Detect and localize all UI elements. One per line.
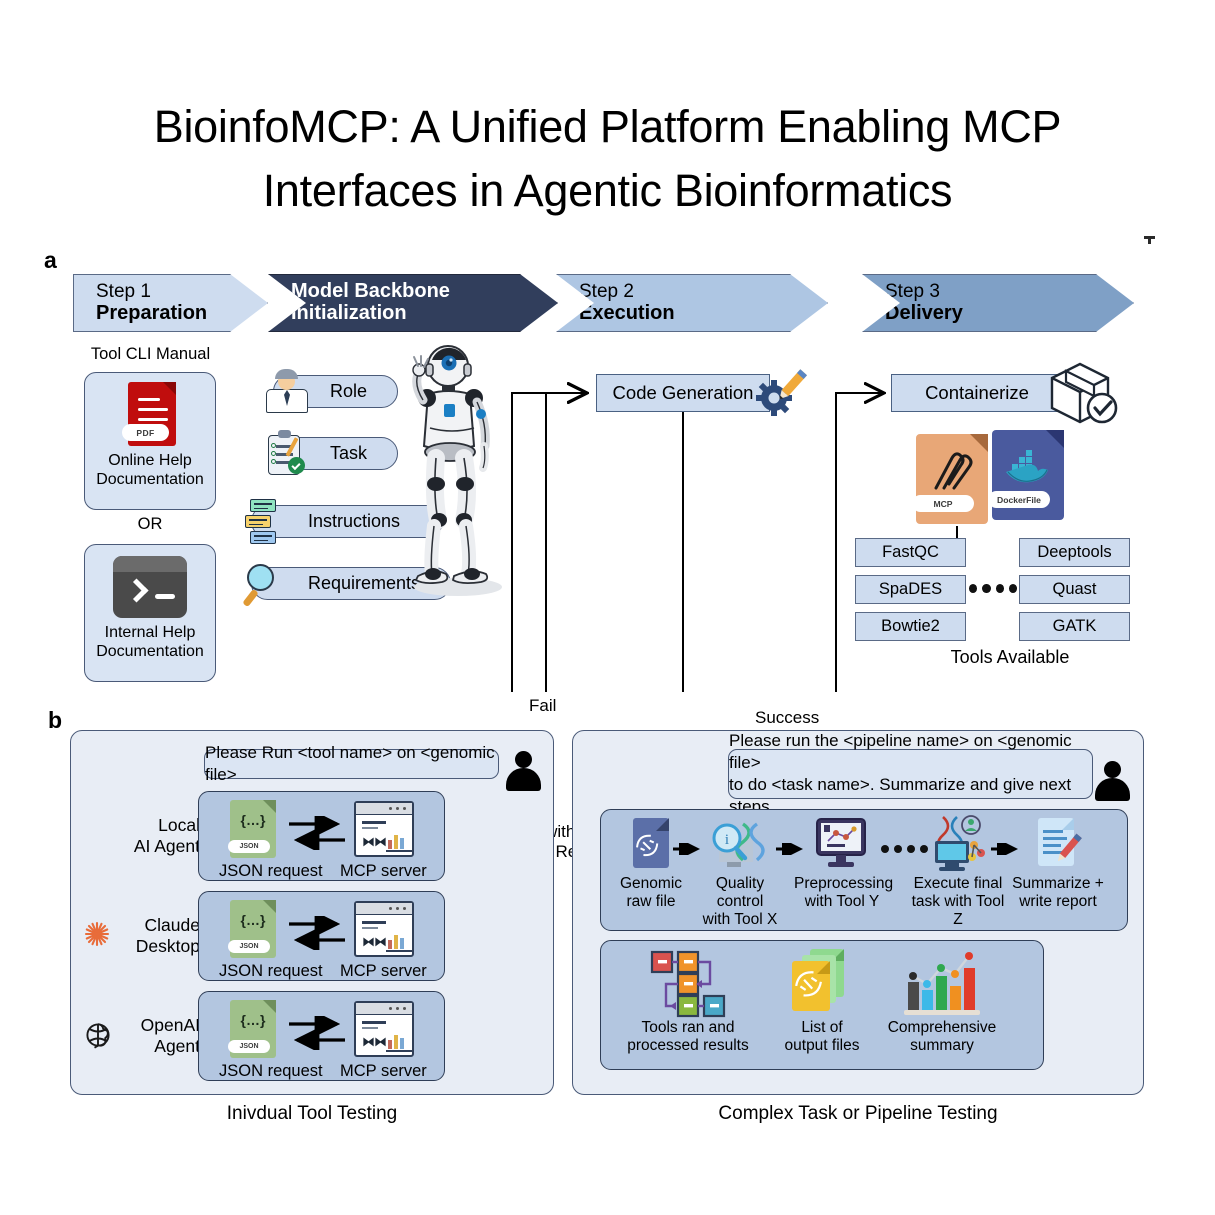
agent-label-local-ai-agent: LocalAI Agent <box>82 815 200 856</box>
json-request-caption: JSON request <box>219 962 323 981</box>
pipeline-arrow <box>775 843 807 855</box>
prompt-bubble-individual-tool: Please Run <tool name> on <genomic file> <box>204 749 499 779</box>
bidirectional-arrows-icon <box>287 916 347 950</box>
doc-card-online-help: PDF Online Help Documentation <box>84 372 216 510</box>
mcp-server-caption: MCP server <box>340 1062 427 1081</box>
agent-exchange-row: {…} JSON ⧓⧓ JSON request MCP server <box>198 891 445 981</box>
json-request-icon: {…} JSON <box>230 800 276 858</box>
tool-cli-manual-heading: Tool CLI Manual <box>73 345 228 364</box>
workflow-nodes-icon <box>618 945 758 1019</box>
docker-file-icon: DockerFile <box>992 430 1064 520</box>
user-avatar <box>1093 761 1131 801</box>
tools-available-caption: Tools Available <box>890 647 1130 668</box>
json-tag-label: JSON <box>228 840 270 853</box>
report-pencil-icon <box>1010 813 1106 875</box>
svg-text:i: i <box>725 832 729 848</box>
tool-box: Bowtie2 <box>855 612 966 641</box>
scientist-icon <box>260 365 314 419</box>
tool-box: Deeptools <box>1019 538 1130 567</box>
doc-card-label: Internal Help Documentation <box>96 624 204 661</box>
step-chevron-execution: Step 2 Execution <box>556 274 828 332</box>
pipeline-arrow <box>990 843 1022 855</box>
monitor-network-icon <box>794 813 890 875</box>
flow-node-code-generation: Code Generation <box>596 374 770 412</box>
output-item: List ofoutput files <box>752 945 892 1056</box>
mcp-server-caption: MCP server <box>340 962 427 981</box>
agent-exchange-row: {…} JSON ⧓⧓ JSON request MCP server <box>198 991 445 1081</box>
bidirectional-arrows-icon <box>287 1016 347 1050</box>
mcp-server-window-icon: ⧓⧓ <box>354 801 414 857</box>
pdf-file-icon: PDF <box>122 382 178 448</box>
gear-pencil-icon <box>752 368 808 420</box>
doc-card-label: Online Help Documentation <box>96 452 204 489</box>
package-check-icon <box>1040 356 1120 428</box>
flow-node-label: Code Generation <box>613 382 754 404</box>
stray-mark <box>1144 236 1155 244</box>
step-name: Preparation <box>96 302 267 326</box>
containerize-label: Containerize <box>925 382 1029 404</box>
agent-exchange-row: {…} JSON ⧓⧓ JSON request MCP server <box>198 791 445 881</box>
pdf-badge-label: PDF <box>122 424 169 441</box>
step-number: Model Backbone <box>291 280 557 302</box>
tool-box: GATK <box>1019 612 1130 641</box>
step-chevron-delivery: Step 3 Delivery <box>862 274 1134 332</box>
pipeline-ellipsis <box>881 845 928 853</box>
edge-label-fail: Fail <box>529 696 556 716</box>
pipeline-step: Execute finaltask with Tool Z <box>910 813 1006 929</box>
figure-title: BioinfoMCP: A Unified Platform Enabling … <box>60 95 1155 223</box>
step-name: Execution <box>579 302 827 326</box>
output-item: Comprehensivesummary <box>872 945 1012 1056</box>
panel-b: Please Run <tool name> on <genomic file>… <box>0 725 1215 1145</box>
pipeline-step: i Quality controlwith Tool X <box>692 813 788 929</box>
mcp-file-icon: MCP <box>916 434 988 524</box>
mcp-server-caption: MCP server <box>340 862 427 881</box>
step-number: Step 3 <box>885 281 1133 302</box>
terminal-icon <box>113 554 187 620</box>
doc-card-internal-help: Internal Help Documentation <box>84 544 216 682</box>
tool-box: Quast <box>1019 575 1130 604</box>
panel-a: Step 1 Preparation Model Backbone Initia… <box>0 262 1215 692</box>
tool-box: SpaDES <box>855 575 966 604</box>
step-chevron-model-backbone: Model Backbone Initialization <box>268 274 558 332</box>
pipeline-step: Preprocessingwith Tool Y <box>794 813 890 911</box>
mcp-file-label: MCP <box>912 495 974 512</box>
or-separator-label: OR <box>84 515 216 534</box>
prompt-bubble-pipeline: Please run the <pipeline name> on <genom… <box>728 749 1093 799</box>
json-request-icon: {…} JSON <box>230 900 276 958</box>
bidirectional-arrows-icon <box>287 816 347 850</box>
output-item: Tools ran andprocessed results <box>618 945 758 1056</box>
humanoid-robot-icon <box>392 344 520 600</box>
dna-files-stack-icon <box>752 945 892 1019</box>
json-request-caption: JSON request <box>219 862 323 881</box>
pipeline-step: Genomicraw file <box>603 813 699 911</box>
tools-ellipsis <box>969 581 1017 595</box>
pipeline-step: Summarize +write report <box>1010 813 1106 911</box>
bar-line-chart-icon <box>872 945 1012 1019</box>
panel-b-left-caption: Inivdual Tool Testing <box>70 1103 554 1125</box>
pill-label: Role <box>330 381 367 402</box>
user-avatar <box>504 751 542 791</box>
mcp-server-window-icon: ⧓⧓ <box>354 1001 414 1057</box>
instruction-blocks-icon <box>238 495 292 549</box>
step-number: Step 1 <box>96 281 267 302</box>
step-name: Initialization <box>291 302 557 326</box>
json-request-caption: JSON request <box>219 1062 323 1081</box>
qc-dna-magnifier-icon: i <box>692 813 788 875</box>
openai-knot-icon <box>84 1021 112 1049</box>
clipboard-check-icon <box>260 427 314 481</box>
panel-b-right-caption: Complex Task or Pipeline Testing <box>572 1103 1144 1125</box>
attribute-pill-role: Role <box>273 375 398 408</box>
pipeline-arrow <box>672 843 704 855</box>
attribute-pill-task: Task <box>273 437 398 470</box>
pill-label: Task <box>330 443 367 464</box>
tool-box: FastQC <box>855 538 966 567</box>
claude-starburst-icon <box>84 921 110 947</box>
pill-label: Instructions <box>308 511 400 532</box>
step-number: Step 2 <box>579 281 827 302</box>
docker-file-label: DockerFile <box>988 491 1050 508</box>
step-chevron-preparation: Step 1 Preparation <box>73 274 268 332</box>
step-name: Delivery <box>885 302 1133 326</box>
json-braces-label: {…} <box>230 812 276 828</box>
json-request-icon: {…} JSON <box>230 1000 276 1058</box>
magnifier-icon <box>238 557 292 611</box>
mcp-server-window-icon: ⧓⧓ <box>354 901 414 957</box>
